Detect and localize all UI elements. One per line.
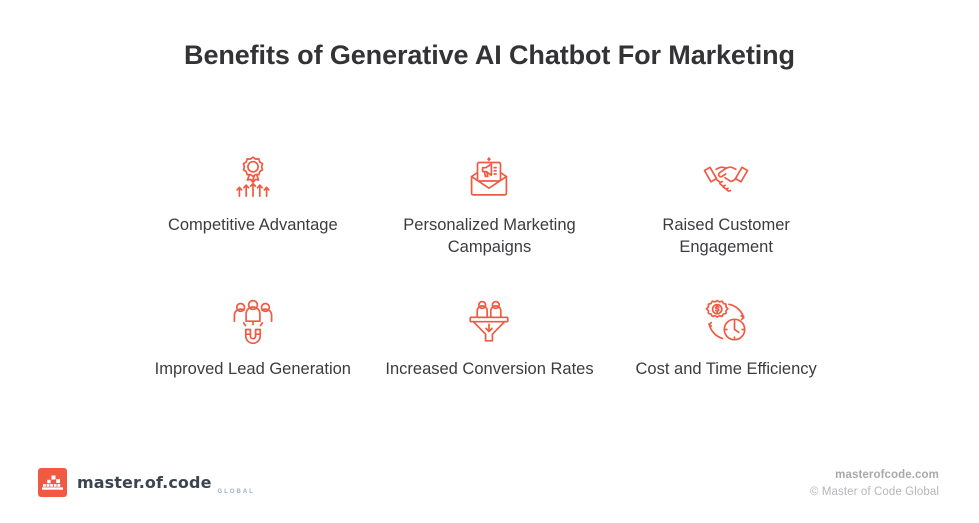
benefit-item-improved-lead-generation: Improved Lead Generation xyxy=(140,296,367,380)
benefit-label: Raised Customer Engagement xyxy=(619,214,834,258)
benefit-label: Cost and Time Efficiency xyxy=(636,358,817,380)
footer-copyright: © Master of Code Global xyxy=(810,484,939,501)
brand-wordmark-sub: GLOBAL xyxy=(218,489,255,497)
footer-website: masterofcode.com xyxy=(810,467,939,484)
benefit-label: Competitive Advantage xyxy=(168,214,338,236)
brand-logo: master.of.code GLOBAL xyxy=(38,468,255,497)
page-title: Benefits of Generative AI Chatbot For Ma… xyxy=(180,38,800,72)
benefit-item-competitive-advantage: Competitive Advantage xyxy=(140,152,367,258)
gear-dollar-clock-icon xyxy=(703,296,749,346)
slide-canvas: Benefits of Generative AI Chatbot For Ma… xyxy=(0,0,979,523)
people-magnet-icon xyxy=(231,296,275,346)
benefit-item-personalized-marketing-campaigns: Personalized Marketing Campaigns xyxy=(376,152,603,258)
funnel-people-icon xyxy=(466,296,512,346)
award-arrows-icon xyxy=(230,152,276,202)
benefit-label: Personalized Marketing Campaigns xyxy=(382,214,597,258)
brand-wordmark: master.of.code xyxy=(77,473,212,492)
benefit-item-cost-and-time-efficiency: Cost and Time Efficiency xyxy=(613,296,840,380)
benefit-label: Increased Conversion Rates xyxy=(385,358,593,380)
benefit-item-increased-conversion-rates: Increased Conversion Rates xyxy=(376,296,603,380)
envelope-megaphone-icon xyxy=(466,152,512,202)
master-of-code-squares-icon xyxy=(38,468,67,497)
footer-attribution: masterofcode.com © Master of Code Global xyxy=(810,467,939,501)
benefit-label: Improved Lead Generation xyxy=(155,358,351,380)
handshake-icon xyxy=(701,152,751,202)
benefits-grid: Competitive Advantage Personalized Marke… xyxy=(140,152,840,380)
benefit-item-raised-customer-engagement: Raised Customer Engagement xyxy=(613,152,840,258)
